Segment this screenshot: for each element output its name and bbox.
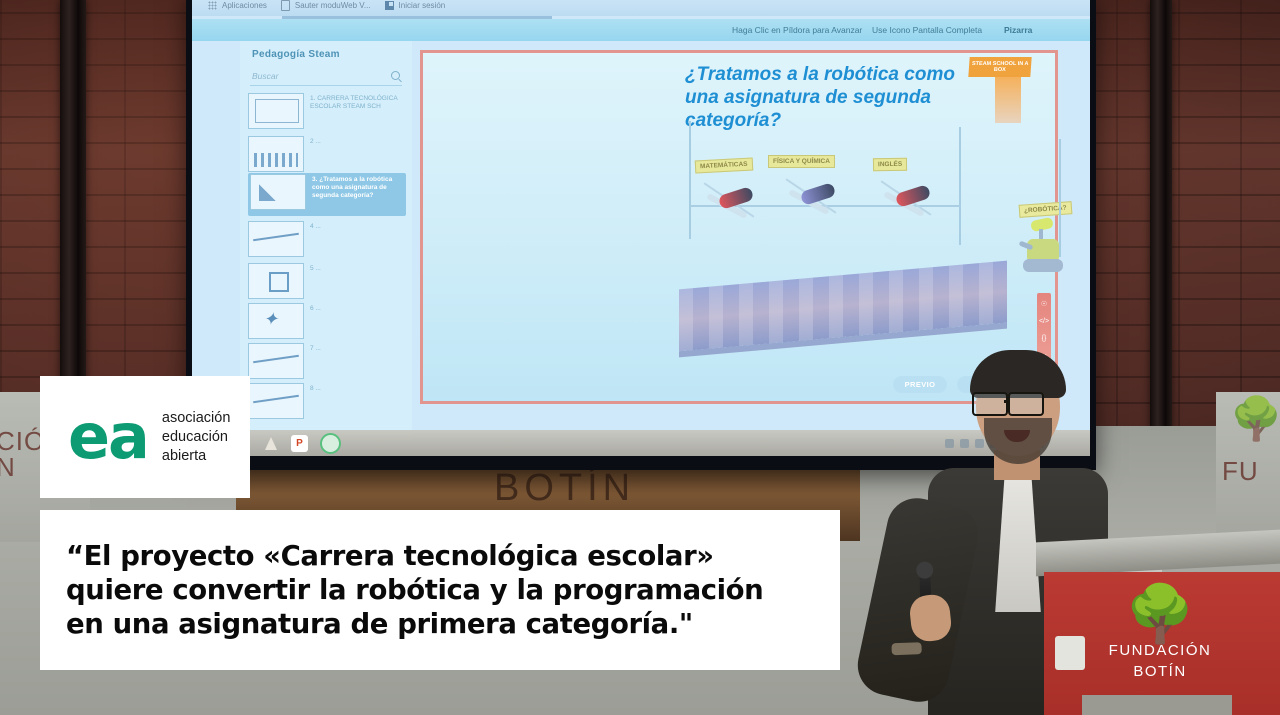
slide-thumbnail xyxy=(248,343,304,379)
code-icon[interactable]: </> xyxy=(1039,318,1049,325)
sidebar-item-label: 8 ... xyxy=(310,383,321,393)
association-logo-card: ea asociación educación abierta xyxy=(40,376,250,498)
ea-logo-mark: ea xyxy=(68,408,148,466)
slide-title-line2: una asignatura de segunda xyxy=(685,86,1025,109)
search-placeholder: Buscar xyxy=(252,71,278,81)
jumper-figure xyxy=(783,181,853,251)
wristwatch xyxy=(891,642,921,655)
sidebar-item-3[interactable]: 3. ¿Tratamos a la robótica como una asig… xyxy=(248,173,406,216)
mug xyxy=(1055,636,1085,670)
sidebar-item-7[interactable]: 7 ... xyxy=(248,343,404,381)
tree-icon: 🌳 xyxy=(1090,590,1230,638)
wall-sign-right: 🌳 FU xyxy=(1216,392,1280,542)
highjump-stand xyxy=(689,121,691,239)
quote-line3: en una asignatura de primera categoría." xyxy=(66,607,763,641)
brackets-icon[interactable]: {} xyxy=(1042,335,1047,342)
slide-thumbnail xyxy=(248,93,304,129)
sidebar-item-4[interactable]: 4 ... xyxy=(248,221,404,259)
ea-logo-line1: asociación xyxy=(162,409,231,428)
slide-thumbnail: ✦ xyxy=(248,303,304,339)
scene: CIÓN N 🌳 FU BOTÍN Aplicaciones Sauter mo… xyxy=(0,0,1280,715)
sidebar-item-label: 7 ... xyxy=(310,343,321,353)
quote-line2: quiere convertir la robótica y la progra… xyxy=(66,573,763,607)
slide-thumbnail xyxy=(248,263,304,299)
sidebar-item-6[interactable]: ✦ 6 ... xyxy=(248,303,404,341)
podium-logo: 🌳 FUNDACIÓN BOTÍN xyxy=(1090,590,1230,680)
glasses-bridge xyxy=(1004,400,1010,403)
sidebar-item-label: 2 ... xyxy=(310,136,321,146)
subject-label-robotica: ¿ROBÓTICA? xyxy=(1019,201,1072,218)
sidebar-item-label: 3. ¿Tratamos a la robótica como una asig… xyxy=(312,174,406,200)
bookmark-sauter[interactable]: Sauter moduWeb V... xyxy=(281,0,371,11)
sidebar-item-1[interactable]: 1. CARRERA TECNOLÓGICA ESCOLAR STEAM SCH xyxy=(248,93,404,131)
browser-bookmarks-bar[interactable]: Aplicaciones Sauter moduWeb V... Iniciar… xyxy=(192,0,1090,16)
sidebar-item-5[interactable]: 5 ... xyxy=(248,263,404,301)
wall-word: BOTÍN xyxy=(494,467,635,510)
sidebar-item-label: 6 ... xyxy=(310,303,321,313)
slide-title-line3: categoría? xyxy=(685,109,1025,132)
ea-logo-words: asociación educación abierta xyxy=(162,409,231,466)
subject-label-fisica-quimica: FÍSICA Y QUÍMICA xyxy=(768,155,835,168)
search-icon xyxy=(391,71,400,80)
sidebar-item-2[interactable]: 2 ... xyxy=(248,136,404,174)
mask-icon[interactable]: ☉ xyxy=(1041,301,1047,308)
quote-card: “El proyecto «Carrera tecnológica escola… xyxy=(40,510,840,670)
presentation-sidebar: Pedagogía Steam Buscar 1. CARRERA TECNOL… xyxy=(240,41,412,441)
bookmark-aplicaciones[interactable]: Aplicaciones xyxy=(208,1,267,10)
slide-thumbnail xyxy=(248,136,304,172)
wall-sign-left-line2: N xyxy=(0,454,16,480)
speaker-hand xyxy=(908,593,953,643)
spotify-icon[interactable] xyxy=(320,433,341,454)
highjump-stand xyxy=(959,127,961,245)
page-icon xyxy=(281,0,290,11)
glasses-right-lens xyxy=(1008,392,1044,416)
wall-sign-right-line1: FU xyxy=(1222,458,1259,484)
sidebar-title: Pedagogía Steam xyxy=(252,49,340,60)
jumper-figure xyxy=(878,183,948,253)
ea-logo-line3: abierta xyxy=(162,447,231,466)
bookmark-label: Aplicaciones xyxy=(222,1,267,10)
speaker-hair xyxy=(970,350,1066,398)
jumper-figure xyxy=(701,185,771,255)
fullscreen-hint: Use Icono Pantalla Completa xyxy=(872,25,982,35)
wall-pipe-right xyxy=(1150,0,1172,430)
sidebar-item-label: 1. CARRERA TECNOLÓGICA ESCOLAR STEAM SCH xyxy=(310,93,404,111)
apps-icon xyxy=(385,1,394,10)
search-input[interactable]: Buscar xyxy=(250,69,402,86)
robot-icon xyxy=(1021,219,1069,277)
tree-icon: 🌳 xyxy=(1230,398,1280,440)
presentation-topbar: Haga Clic en Píldora para Avanzar Use Ic… xyxy=(192,19,1090,41)
slide-title: ¿Tratamos a la robótica como una asignat… xyxy=(685,63,1025,132)
bookmark-iniciar-sesion[interactable]: Iniciar sesión xyxy=(385,1,446,10)
bookmark-label: Sauter moduWeb V... xyxy=(295,1,371,10)
slide-title-line1: ¿Tratamos a la robótica como xyxy=(685,63,1025,86)
wall-pipe-left xyxy=(60,0,86,430)
pizarra-button[interactable]: Pizarra xyxy=(1004,25,1032,35)
podium: 🌳 FUNDACIÓN BOTÍN xyxy=(1036,540,1280,715)
quote-line1: “El proyecto «Carrera tecnológica escola… xyxy=(66,539,763,573)
sidebar-item-label: 5 ... xyxy=(310,263,321,273)
subject-label-ingles: INGLÉS xyxy=(873,158,907,172)
bookmark-label: Iniciar sesión xyxy=(399,1,446,10)
podium-org-line2: BOTÍN xyxy=(1090,663,1230,680)
mat-platform xyxy=(679,261,1007,352)
vlc-icon[interactable] xyxy=(262,435,279,452)
subject-label-matematicas: MATEMÁTICAS xyxy=(695,158,753,174)
advance-hint: Haga Clic en Píldora para Avanzar xyxy=(732,25,862,35)
slide-thumbnail xyxy=(250,174,306,210)
slide-thumbnail xyxy=(248,221,304,257)
powerpoint-icon[interactable]: P xyxy=(291,435,308,452)
glasses-left-lens xyxy=(972,392,1008,416)
sidebar-item-label: 4 ... xyxy=(310,221,321,231)
apps-grid-icon xyxy=(208,1,217,10)
podium-org-line1: FUNDACIÓN xyxy=(1090,642,1230,659)
sidebar-item-8[interactable]: 8 ... xyxy=(248,383,404,421)
slide-thumbnail xyxy=(248,383,304,419)
ea-logo-line2: educación xyxy=(162,428,231,447)
quote-text: “El proyecto «Carrera tecnológica escola… xyxy=(40,539,789,641)
